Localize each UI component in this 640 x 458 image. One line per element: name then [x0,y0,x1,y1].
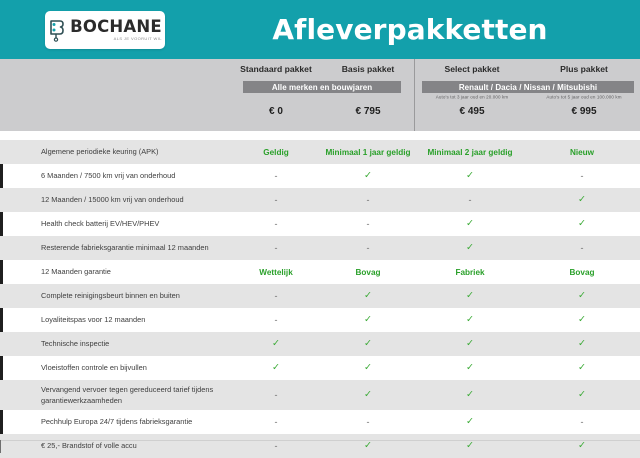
table-row: Vervangend vervoer tegen gereduceerd tar… [0,380,640,410]
row-cell: ✓ [526,339,638,349]
bochane-mark-icon [48,18,65,42]
check-icon: ✓ [578,218,586,229]
check-icon: ✓ [466,242,474,253]
row-label: Resterende fabrieksgarantie minimaal 12 … [0,243,230,254]
check-icon: ✓ [364,170,372,181]
row-accent [0,284,3,308]
row-cell: ✓ [526,291,638,301]
check-icon: ✓ [578,290,586,301]
row-cell: - [230,220,322,229]
row-cell: ✓ [414,339,526,349]
dash-icon: - [367,417,370,427]
row-cell: ✓ [414,390,526,400]
row-accent [0,308,3,332]
row-cell: ✓ [414,291,526,301]
dash-icon: - [581,417,584,427]
dash-icon: - [367,243,370,253]
price-basis: € 795 [322,106,414,117]
row-label: Algemene periodieke keuring (APK) [0,147,230,158]
row-cell: Nieuw [526,148,638,157]
brand-name: BOCHANE [70,19,162,36]
table-row: 12 Maanden garantieWettelijkBovagFabriek… [0,260,640,284]
table-row: Algemene periodieke keuring (APK)GeldigM… [0,140,640,164]
table-left-edge [0,440,1,453]
row-cell: ✓ [414,417,526,427]
row-accent [0,236,3,260]
row-cell: ✓ [526,315,638,325]
row-accent [0,356,3,380]
row-cell: ✓ [526,441,638,451]
dash-icon: - [275,219,278,229]
row-cell: ✓ [322,390,414,400]
row-cell: Geldig [230,148,322,157]
row-cell: Fabriek [414,268,526,277]
column-title-standaard: Standaard pakket [230,64,322,74]
group-scope-bar-left: Alle merken en bouwjaren [243,81,401,93]
check-icon: ✓ [466,389,474,400]
bochane-wordmark: BOCHANE ALS JE VOORUIT WIL [70,19,162,41]
row-cell: - [230,244,322,253]
dash-icon: - [581,243,584,253]
page-title: Afleverpakketten [180,0,640,59]
row-cell: ✓ [322,339,414,349]
row-cell: ✓ [414,243,526,253]
row-label: Health check batterij EV/HEV/PHEV [0,219,230,230]
row-accent [0,380,3,410]
row-cell: - [230,391,322,400]
dash-icon: - [367,195,370,205]
row-cell: Minimaal 1 jaar geldig [322,148,414,157]
dash-icon: - [275,171,278,181]
dash-icon: - [367,219,370,229]
check-icon: ✓ [466,314,474,325]
group-scope-bar-right: Renault / Dacia / Nissan / Mitsubishi [422,81,634,93]
package-group-left: Standaard pakket Basis pakket Alle merke… [230,59,414,131]
row-label: Complete reinigingsbeurt binnen en buite… [0,291,230,302]
row-cell: - [230,316,322,325]
table-row: € 25,- Brandstof of volle accu-✓✓✓ [0,434,640,458]
page-header: BOCHANE ALS JE VOORUIT WIL Afleverpakket… [0,0,640,59]
check-icon: ✓ [364,362,372,373]
row-cell: ✓ [414,219,526,229]
row-cell: ✓ [322,441,414,451]
table-row: Complete reinigingsbeurt binnen en buite… [0,284,640,308]
row-cell: - [230,442,322,451]
row-accent [0,188,3,212]
row-cell: - [526,172,638,181]
row-cell: - [230,196,322,205]
table-row: Health check batterij EV/HEV/PHEV--✓✓ [0,212,640,236]
check-icon: ✓ [466,338,474,349]
dash-icon: - [275,243,278,253]
row-cell: ✓ [526,363,638,373]
dash-icon: - [275,195,278,205]
row-cell: - [322,418,414,427]
row-cell: ✓ [322,291,414,301]
rows-top-spacer [0,131,640,140]
row-cell: ✓ [414,171,526,181]
row-cell: - [230,172,322,181]
row-cell: - [322,244,414,253]
dash-icon: - [275,315,278,325]
table-row: Pechhulp Europa 24/7 tijdens fabrieksgar… [0,410,640,434]
row-cell: Wettelijk [230,268,322,277]
row-accent [0,260,3,284]
dash-icon: - [275,291,278,301]
column-title-select: Select pakket [416,64,528,74]
row-accent [0,332,3,356]
column-subtitle-plus: Auto's tot 5 jaar oud en 100.000 km [514,95,640,100]
row-cell: - [230,292,322,301]
check-icon: ✓ [578,314,586,325]
row-label: € 25,- Brandstof of volle accu [0,441,230,452]
row-cell: - [526,244,638,253]
row-label: Loyaliteitspas voor 12 maanden [0,315,230,326]
row-cell: ✓ [414,441,526,451]
table-row: 6 Maanden / 7500 km vrij van onderhoud-✓… [0,164,640,188]
row-cell: - [526,418,638,427]
check-icon: ✓ [466,170,474,181]
check-icon: ✓ [578,194,586,205]
row-label: 12 Maanden / 15000 km vrij van onderhoud [0,195,230,206]
check-icon: ✓ [466,440,474,451]
dash-icon: - [469,195,472,205]
row-cell: Bovag [526,268,638,277]
row-cell: Bovag [322,268,414,277]
row-label: 12 Maanden garantie [0,267,230,278]
row-cell: ✓ [230,339,322,349]
check-icon: ✓ [272,362,280,373]
dash-icon: - [275,441,278,451]
row-label: Vervangend vervoer tegen gereduceerd tar… [0,384,230,406]
row-cell: - [414,196,526,205]
feature-rows: Algemene periodieke keuring (APK)GeldigM… [0,140,640,458]
check-icon: ✓ [364,440,372,451]
check-icon: ✓ [272,338,280,349]
dash-icon: - [581,171,584,181]
check-icon: ✓ [578,389,586,400]
row-cell: - [322,220,414,229]
row-cell: ✓ [322,363,414,373]
check-icon: ✓ [364,290,372,301]
table-row: Technische inspectie✓✓✓✓ [0,332,640,356]
row-cell: - [322,196,414,205]
row-cell: ✓ [526,219,638,229]
package-group-right: Select pakket Plus pakket Renault / Daci… [416,59,640,131]
row-cell: ✓ [322,315,414,325]
check-icon: ✓ [364,338,372,349]
check-icon: ✓ [466,416,474,427]
row-cell: ✓ [322,171,414,181]
row-cell: - [230,418,322,427]
check-icon: ✓ [466,362,474,373]
afleverpakketten-page: BOCHANE ALS JE VOORUIT WIL Afleverpakket… [0,0,640,453]
row-cell: Minimaal 2 jaar geldig [414,148,526,157]
check-icon: ✓ [364,314,372,325]
check-icon: ✓ [466,290,474,301]
check-icon: ✓ [466,218,474,229]
table-bottom-border [0,440,640,441]
row-cell: ✓ [414,363,526,373]
row-cell: ✓ [414,315,526,325]
check-icon: ✓ [578,362,586,373]
bochane-logo[interactable]: BOCHANE ALS JE VOORUIT WIL [45,11,165,49]
row-accent [0,212,3,236]
row-cell: ✓ [230,363,322,373]
row-label: 6 Maanden / 7500 km vrij van onderhoud [0,171,230,182]
table-row: Resterende fabrieksgarantie minimaal 12 … [0,236,640,260]
column-title-basis: Basis pakket [322,64,414,74]
price-standaard: € 0 [230,106,322,117]
row-label: Vloeistoffen controle en bijvullen [0,363,230,374]
check-icon: ✓ [578,440,586,451]
check-icon: ✓ [364,389,372,400]
price-select: € 495 [416,106,528,117]
column-header-band: Standaard pakket Basis pakket Alle merke… [0,59,640,131]
row-label: Technische inspectie [0,339,230,350]
brand-tagline: ALS JE VOORUIT WIL [114,37,162,41]
dash-icon: - [275,417,278,427]
row-cell: ✓ [526,195,638,205]
table-row: Loyaliteitspas voor 12 maanden-✓✓✓ [0,308,640,332]
check-icon: ✓ [578,338,586,349]
row-label: Pechhulp Europa 24/7 tijdens fabrieksgar… [0,417,230,428]
row-cell: ✓ [526,390,638,400]
dash-icon: - [275,390,278,400]
row-accent [0,140,3,164]
column-title-plus: Plus pakket [528,64,640,74]
price-plus: € 995 [528,106,640,117]
row-accent [0,410,3,434]
row-accent [0,164,3,188]
table-row: 12 Maanden / 15000 km vrij van onderhoud… [0,188,640,212]
table-row: Vloeistoffen controle en bijvullen✓✓✓✓ [0,356,640,380]
